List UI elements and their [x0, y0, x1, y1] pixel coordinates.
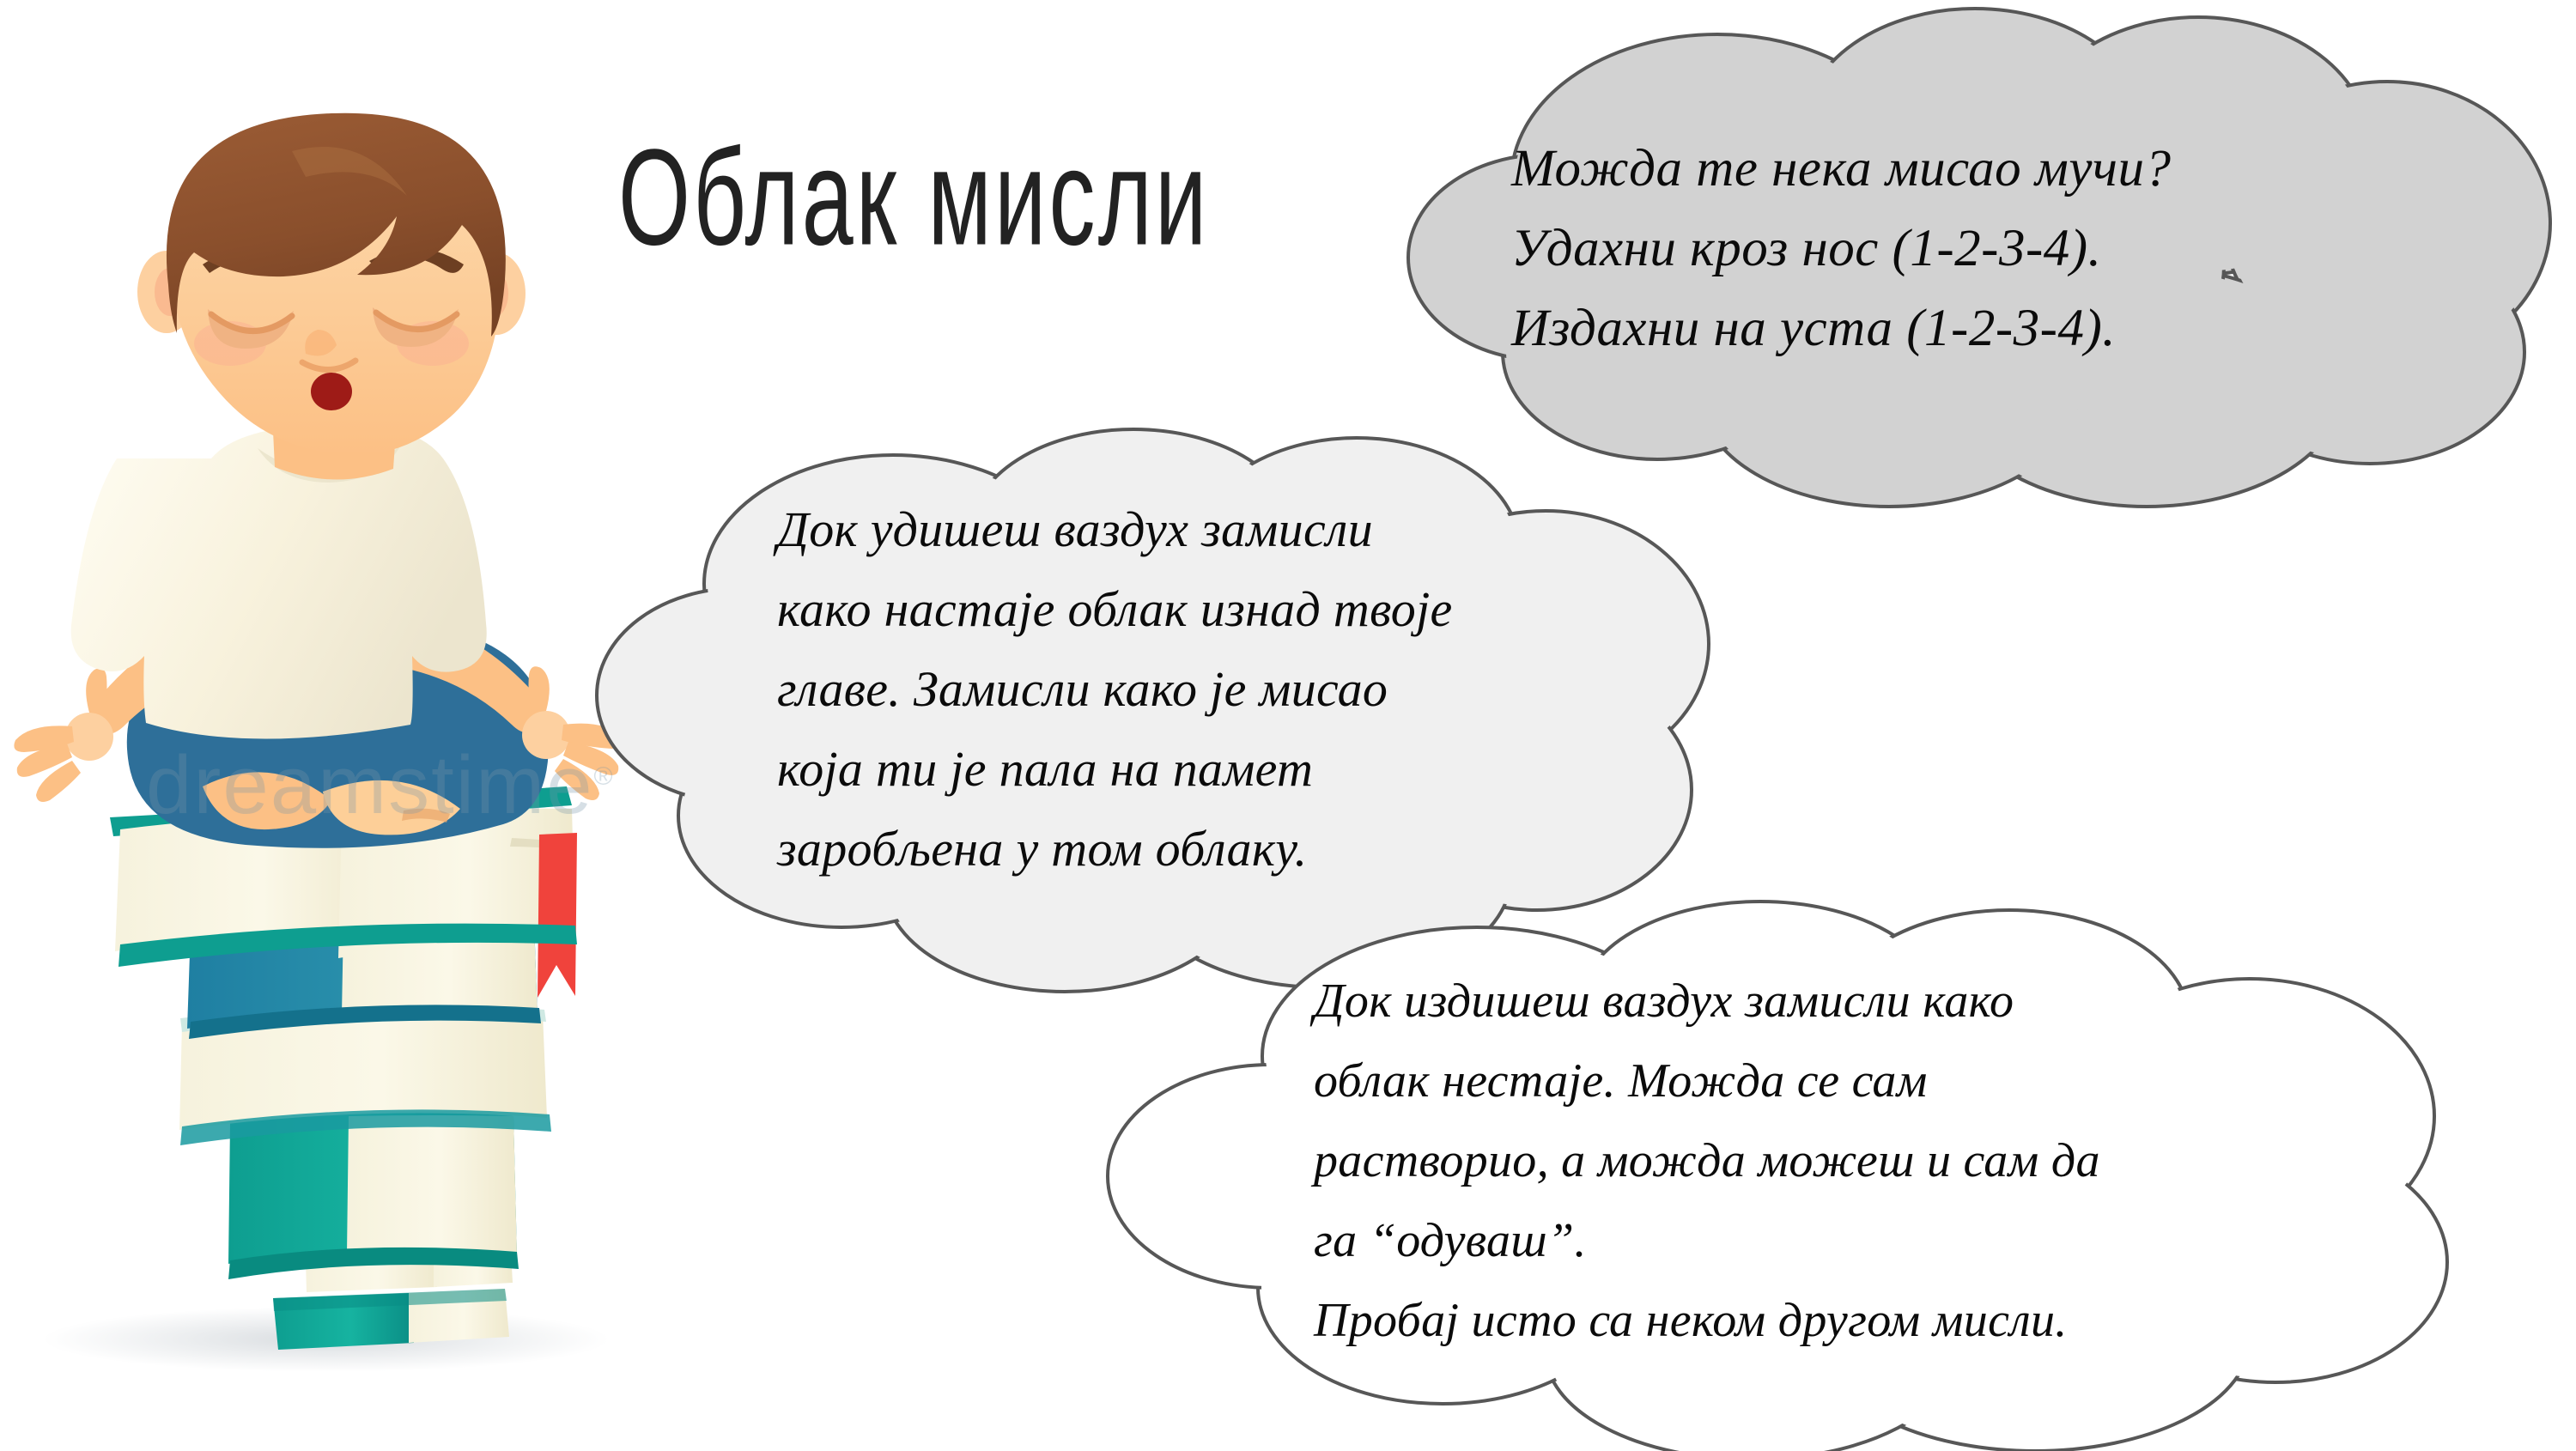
- boy-mouth-exhaling: [311, 373, 352, 410]
- boy-head: [167, 113, 506, 455]
- illustration-svg: [0, 52, 635, 1425]
- page-title: Облак мисли: [618, 129, 1154, 265]
- book-stack: [110, 786, 577, 1350]
- boy-hand-left: [14, 668, 113, 802]
- bookmark-ribbon: [538, 833, 577, 998]
- cloud-bottom-text: Док издишеш ваздух замисли како облак не…: [1314, 962, 2100, 1361]
- boy-meditating-illustration: dreamstime®: [0, 52, 635, 1425]
- cloud-top-text: Можда те нека мисао мучи? Удахни кроз но…: [1511, 129, 2172, 368]
- boy-figure: [14, 113, 621, 848]
- slide-canvas: dreamstime® Облак мисли: [0, 0, 2576, 1449]
- cloud-middle-text: Док удишеш ваздух замисли како настаје о…: [777, 489, 1453, 889]
- book-5: [228, 1112, 519, 1279]
